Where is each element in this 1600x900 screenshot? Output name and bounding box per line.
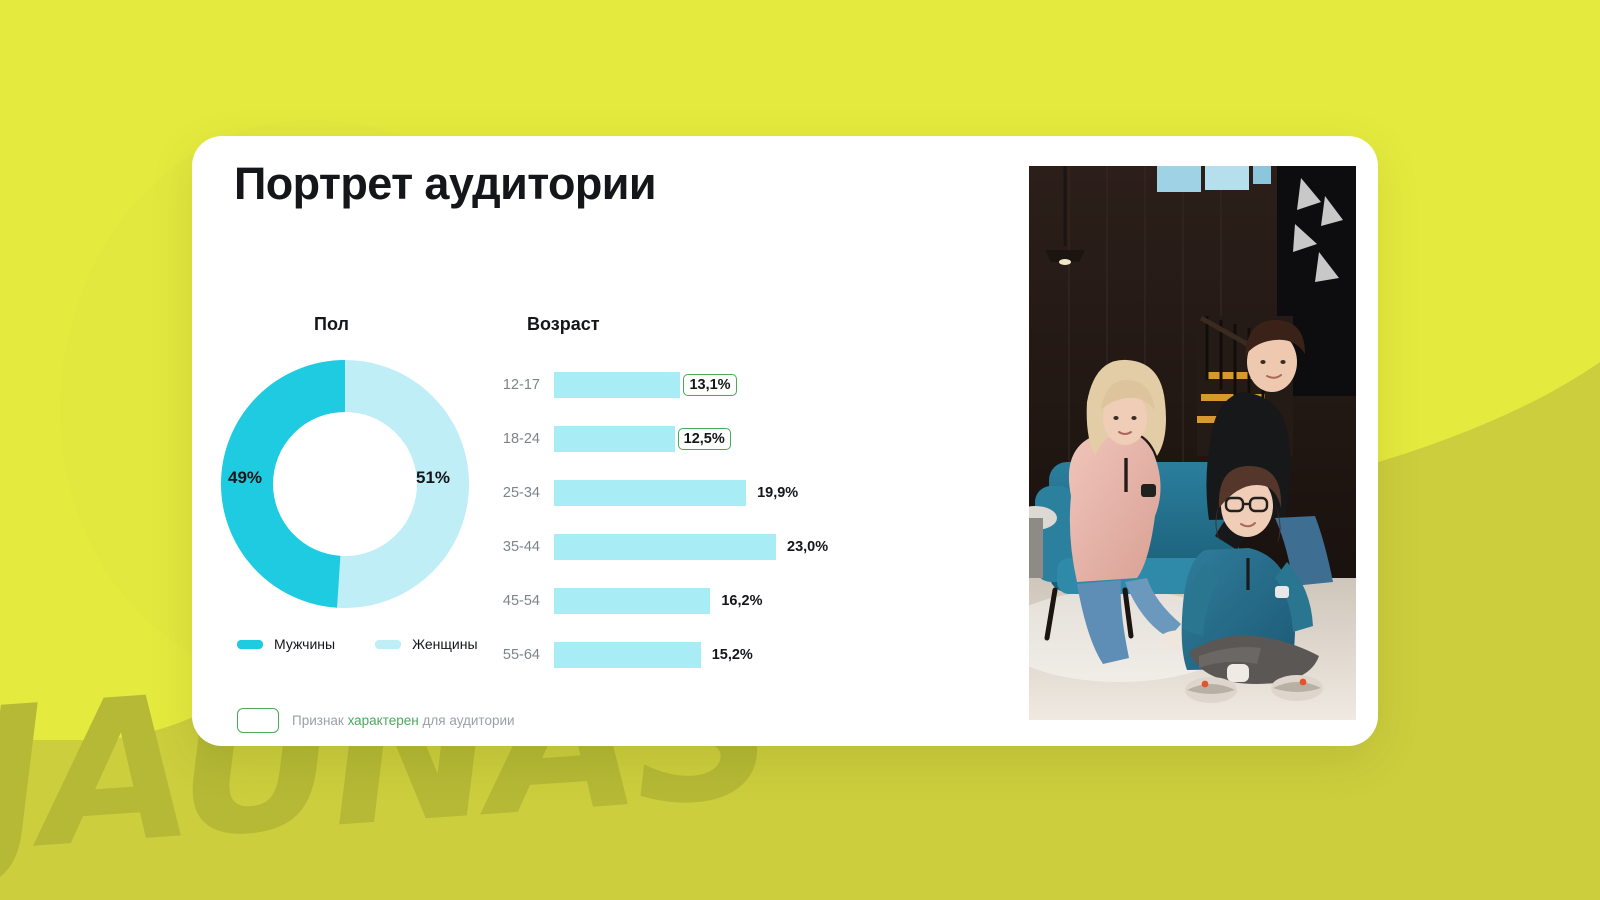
legend-note: Признак характерен для аудитории: [237, 708, 515, 733]
legend-swatch-female: [375, 640, 401, 649]
legend-note-accent: характерен: [348, 713, 419, 728]
audience-photo-illustration: [1029, 166, 1356, 720]
bar-value: 16,2%: [718, 591, 765, 611]
bar-track: 12,5%: [554, 426, 1052, 452]
bar-row: 12-1713,1%: [492, 358, 1052, 412]
legend-label-male: Мужчины: [274, 636, 335, 652]
bar-value: 23,0%: [784, 537, 831, 557]
bar-fill: [554, 588, 710, 614]
bar-value: 19,9%: [754, 483, 801, 503]
bar-track: 16,2%: [554, 588, 1052, 614]
bar-category-label: 25-34: [492, 485, 554, 501]
legend-item-female: Женщины: [375, 636, 477, 652]
legend-note-text: Признак характерен для аудитории: [292, 713, 515, 728]
bar-row: 55-6415,2%: [492, 628, 1052, 682]
legend-note-prefix: Признак: [292, 713, 348, 728]
highlight-swatch-icon: [237, 708, 279, 733]
bar-fill: [554, 642, 701, 668]
legend-note-suffix: для аудитории: [419, 713, 515, 728]
bar-track: 19,9%: [554, 480, 1052, 506]
bar-value: 15,2%: [709, 645, 756, 665]
bar-category-label: 45-54: [492, 593, 554, 609]
audience-photo: [1029, 166, 1356, 720]
donut-label-male: 49%: [228, 468, 262, 488]
donut-label-female: 51%: [416, 468, 450, 488]
bar-value-highlighted: 13,1%: [683, 374, 736, 396]
bar-fill: [554, 426, 675, 452]
bar-row: 45-5416,2%: [492, 574, 1052, 628]
gender-section-heading: Пол: [314, 314, 349, 335]
bar-track: 15,2%: [554, 642, 1052, 668]
audience-portrait-card: Портрет аудитории Пол 49% 51% Мужчины Же…: [192, 136, 1378, 746]
age-bar-chart: 12-1713,1%18-2412,5%25-3419,9%35-4423,0%…: [492, 358, 1052, 682]
age-section-heading: Возраст: [527, 314, 600, 335]
gender-legend: Мужчины Женщины: [237, 636, 478, 652]
legend-label-female: Женщины: [412, 636, 477, 652]
bar-fill: [554, 480, 746, 506]
legend-swatch-male: [237, 640, 263, 649]
bar-category-label: 35-44: [492, 539, 554, 555]
bar-category-label: 55-64: [492, 647, 554, 663]
bar-category-label: 18-24: [492, 431, 554, 447]
bar-category-label: 12-17: [492, 377, 554, 393]
bar-fill: [554, 372, 680, 398]
bar-track: 13,1%: [554, 372, 1052, 398]
gender-donut-chart: 49% 51%: [219, 358, 471, 610]
bar-fill: [554, 534, 776, 560]
bar-row: 25-3419,9%: [492, 466, 1052, 520]
bar-track: 23,0%: [554, 534, 1052, 560]
bar-value-highlighted: 12,5%: [678, 428, 731, 450]
bar-row: 35-4423,0%: [492, 520, 1052, 574]
bar-row: 18-2412,5%: [492, 412, 1052, 466]
page-title: Портрет аудитории: [234, 158, 656, 210]
legend-item-male: Мужчины: [237, 636, 335, 652]
